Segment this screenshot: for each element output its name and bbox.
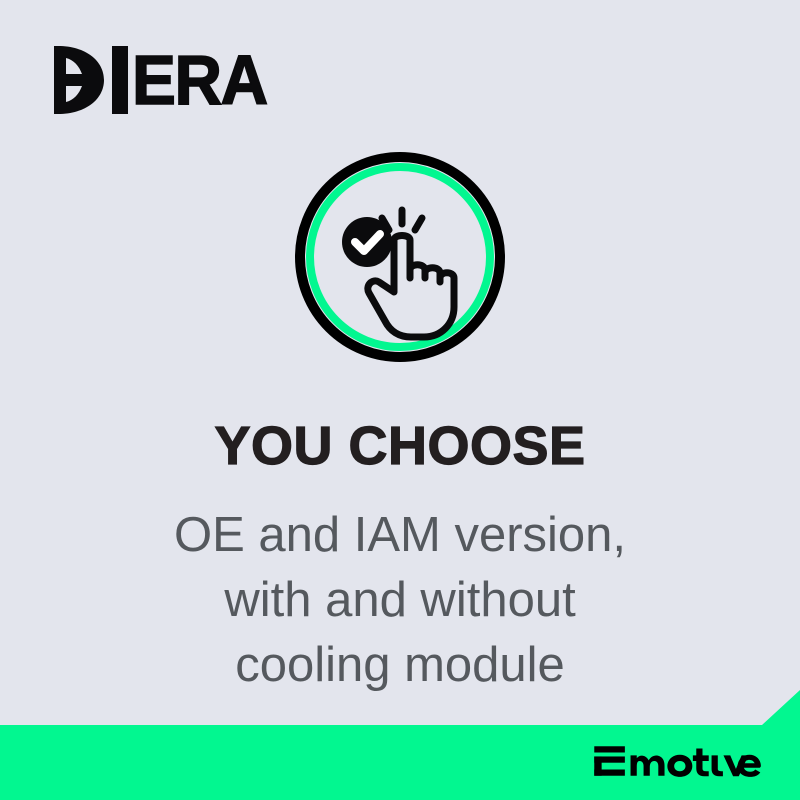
crescent-shape [54, 46, 104, 114]
tap-motion-lines [382, 210, 422, 230]
page-title: YOU CHOOSE [0, 415, 800, 477]
footer-banner [0, 690, 800, 800]
subtitle-line-1: OE and IAM version, [0, 503, 800, 568]
subtitle-block: OE and IAM version, with and without coo… [0, 503, 800, 698]
outer-ring [300, 157, 500, 357]
era-brand-logo: ERA [52, 44, 275, 116]
subtitle-line-2: with and without [0, 568, 800, 633]
poster-canvas: ERA YOU CHOOSE [0, 0, 800, 800]
era-crescent-mark [52, 44, 130, 116]
era-wordmark: ERA [132, 45, 267, 115]
vertical-bar [112, 46, 128, 114]
click-choose-icon [295, 152, 505, 362]
emotive-wordmark [592, 738, 762, 784]
emotive-logo [592, 738, 762, 784]
inner-ring [310, 167, 490, 347]
subtitle-line-3: cooling module [0, 633, 800, 698]
